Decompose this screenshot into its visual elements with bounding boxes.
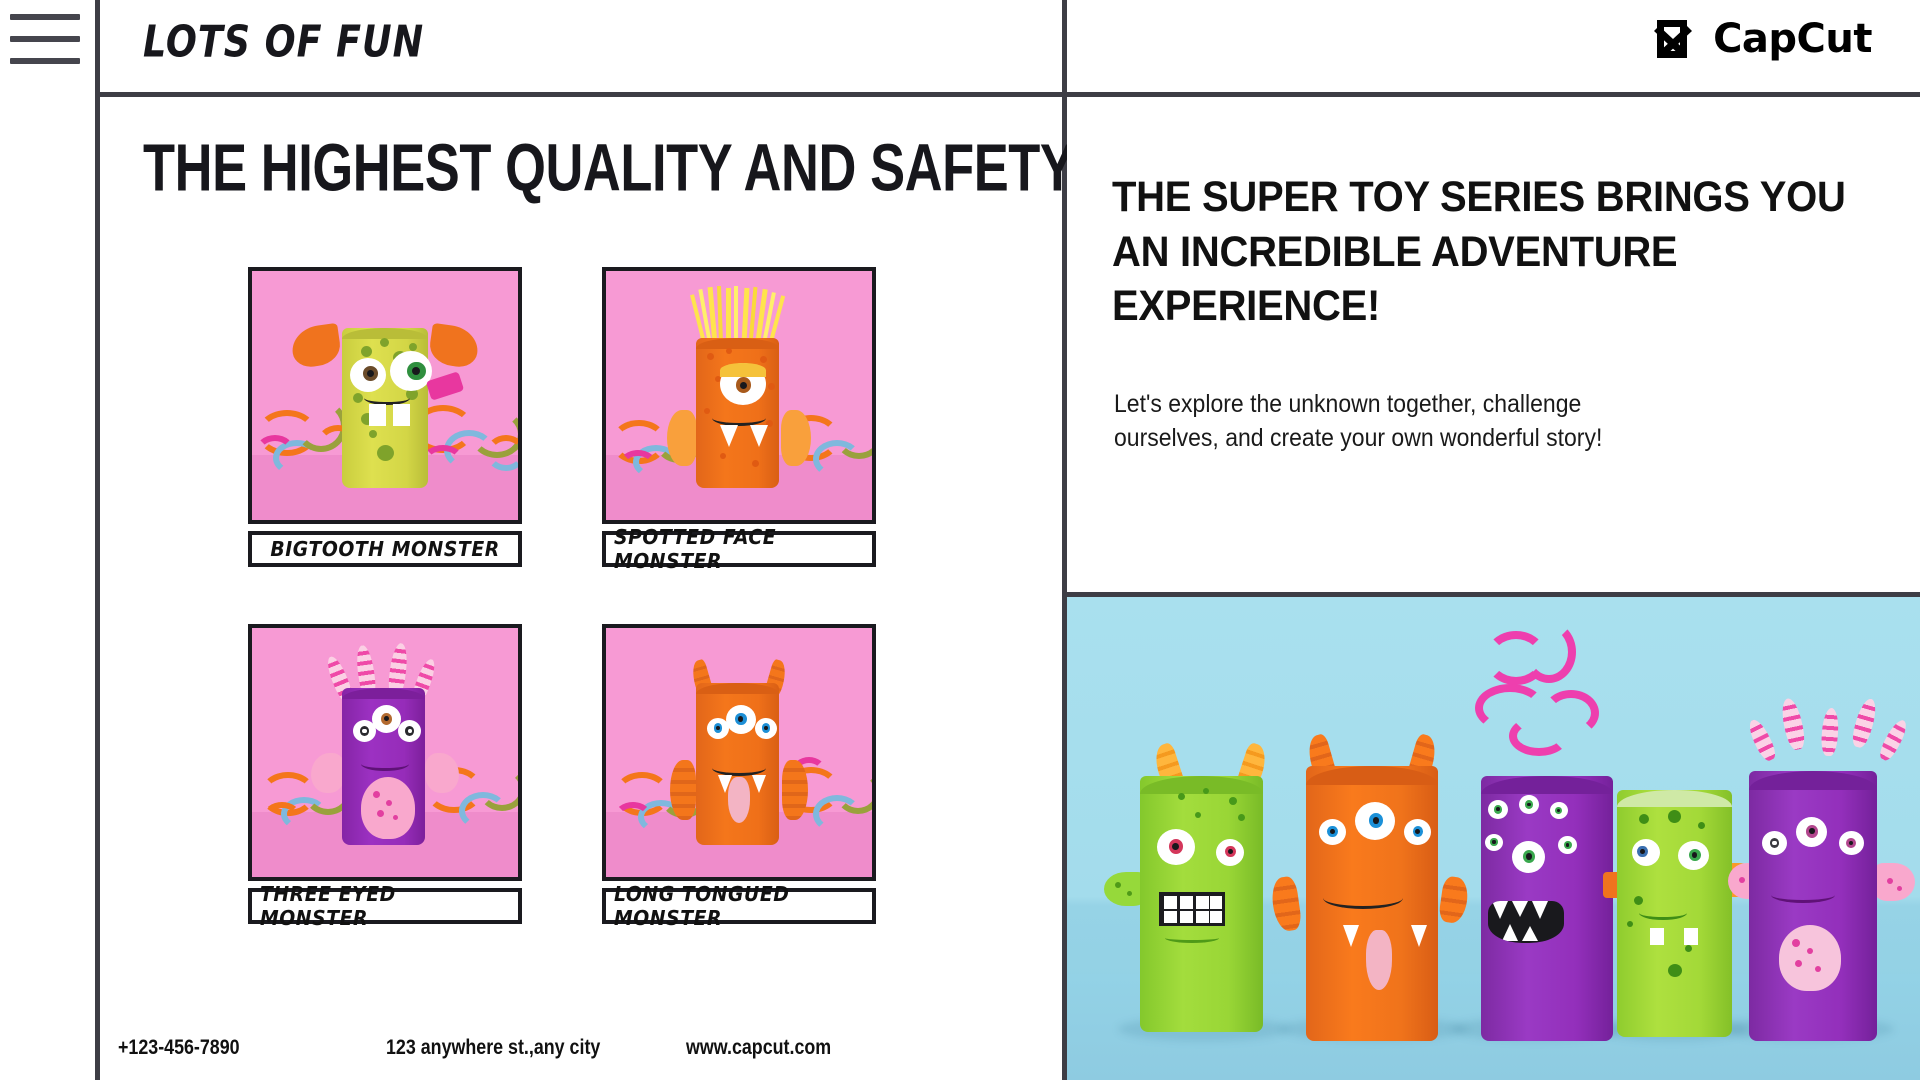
product-name: SPOTTED FACE MONSTER — [614, 525, 864, 573]
product-photo-three-eyed — [248, 624, 522, 881]
product-photo-bigtooth — [248, 267, 522, 524]
product-caption: BIGTOOTH MONSTER — [248, 531, 522, 567]
footer-address: 123 anywhere st.,any city — [386, 1036, 600, 1060]
capcut-mark-icon — [1653, 17, 1701, 61]
footer-website[interactable]: www.capcut.com — [686, 1036, 831, 1060]
capcut-logo[interactable]: CapCut — [1653, 16, 1872, 62]
hamburger-bar-2 — [10, 36, 80, 42]
product-photo-spotted-face — [602, 267, 876, 524]
footer-phone[interactable]: +123-456-7890 — [118, 1036, 240, 1060]
product-card[interactable]: LONG TONGUED MONSTER — [602, 624, 876, 924]
product-name: BIGTOOTH MONSTER — [270, 537, 499, 561]
product-photo-long-tongued — [602, 624, 876, 881]
right-column: THE SUPER TOY SERIES BRINGS YOU AN INCRE… — [1067, 97, 1920, 592]
product-name: LONG TONGUED MONSTER — [614, 882, 864, 930]
footer-contact-bar: +123-456-7890 123 anywhere st.,any city … — [118, 1030, 1048, 1066]
product-card[interactable]: THREE EYED MONSTER — [248, 624, 522, 924]
product-caption: THREE EYED MONSTER — [248, 888, 522, 924]
left-column: THE HIGHEST QUALITY AND SAFETY — [100, 97, 1062, 1080]
poster-page: LOTS OF FUN CapCut THE HIGHEST QUALITY A… — [0, 0, 1920, 1080]
promo-heading: THE SUPER TOY SERIES BRINGS YOU AN INCRE… — [1112, 170, 1847, 334]
product-caption: SPOTTED FACE MONSTER — [602, 531, 876, 567]
hero-image — [1067, 597, 1920, 1080]
page-title: THE HIGHEST QUALITY AND SAFETY — [143, 129, 1074, 206]
product-caption: LONG TONGUED MONSTER — [602, 888, 876, 924]
hamburger-menu-icon[interactable] — [10, 14, 80, 64]
product-card[interactable]: SPOTTED FACE MONSTER — [602, 267, 876, 567]
brand-title: LOTS OF FUN — [143, 16, 424, 67]
hamburger-bar-3 — [10, 58, 80, 64]
product-card[interactable]: BIGTOOTH MONSTER — [248, 267, 522, 567]
capcut-wordmark: CapCut — [1713, 16, 1872, 62]
promo-paragraph: Let's explore the unknown together, chal… — [1114, 387, 1629, 455]
hamburger-bar-1 — [10, 14, 80, 20]
product-name: THREE EYED MONSTER — [260, 882, 510, 930]
product-grid: BIGTOOTH MONSTER — [248, 267, 928, 924]
